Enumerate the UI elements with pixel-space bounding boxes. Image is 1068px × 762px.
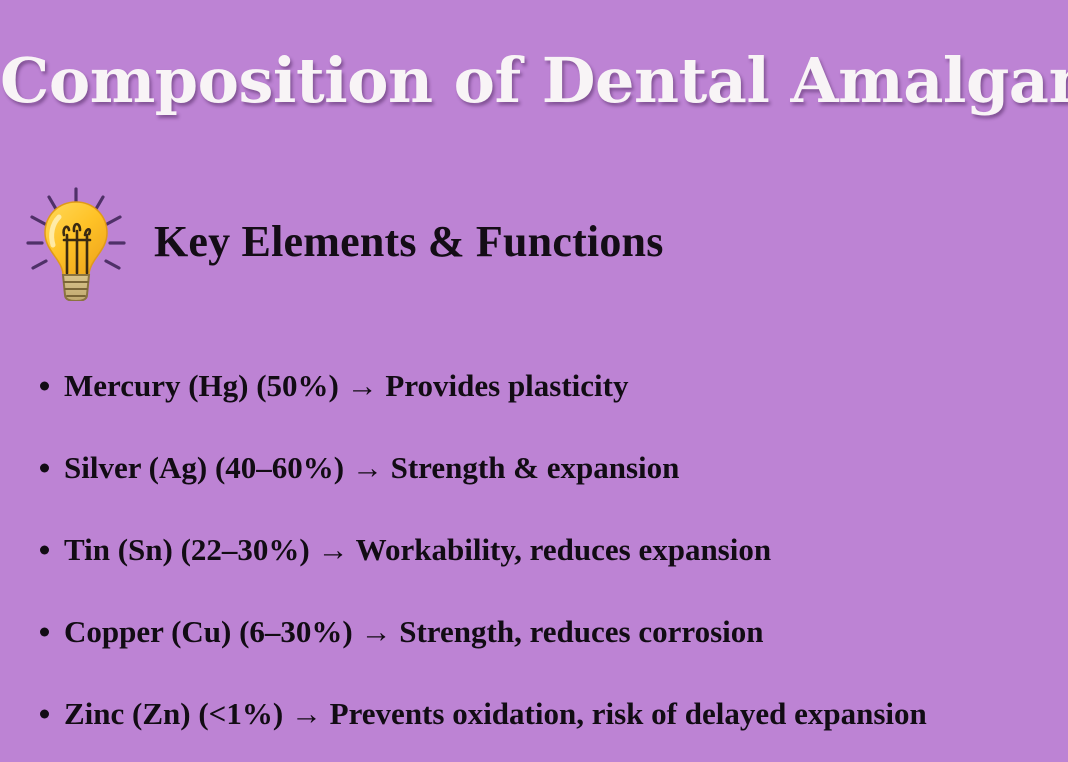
section-heading-row: Key Elements & Functions <box>18 183 1018 301</box>
bullet-dot-icon <box>40 628 49 637</box>
bullet-dot-icon <box>40 546 49 555</box>
bullet-dot-icon <box>40 710 49 719</box>
list-item: Silver (Ag) (40–60%) → Strength & expans… <box>32 427 1052 509</box>
list-item-label: Zinc (Zn) (<1%) → Prevents oxidation, ri… <box>64 697 927 731</box>
lightbulb-icon <box>18 183 136 301</box>
list-item-label: Silver (Ag) (40–60%) → Strength & expans… <box>64 451 679 485</box>
list-item: Zinc (Zn) (<1%) → Prevents oxidation, ri… <box>32 673 1052 755</box>
key-elements-list: Mercury (Hg) (50%) → Provides plasticity… <box>32 345 1052 755</box>
page-title: Composition of Dental Amalgam <box>0 48 1068 113</box>
list-item-label: Tin (Sn) (22–30%) → Workability, reduces… <box>64 533 771 567</box>
list-item: Copper (Cu) (6–30%) → Strength, reduces … <box>32 591 1052 673</box>
section-heading: Key Elements & Functions <box>154 220 664 264</box>
list-item: Mercury (Hg) (50%) → Provides plasticity <box>32 345 1052 427</box>
bullet-dot-icon <box>40 464 49 473</box>
bullet-dot-icon <box>40 382 49 391</box>
slide-canvas: Composition of Dental Amalgam <box>0 0 1068 762</box>
list-item-label: Mercury (Hg) (50%) → Provides plasticity <box>64 369 629 403</box>
list-item: Tin (Sn) (22–30%) → Workability, reduces… <box>32 509 1052 591</box>
list-item-label: Copper (Cu) (6–30%) → Strength, reduces … <box>64 615 763 649</box>
